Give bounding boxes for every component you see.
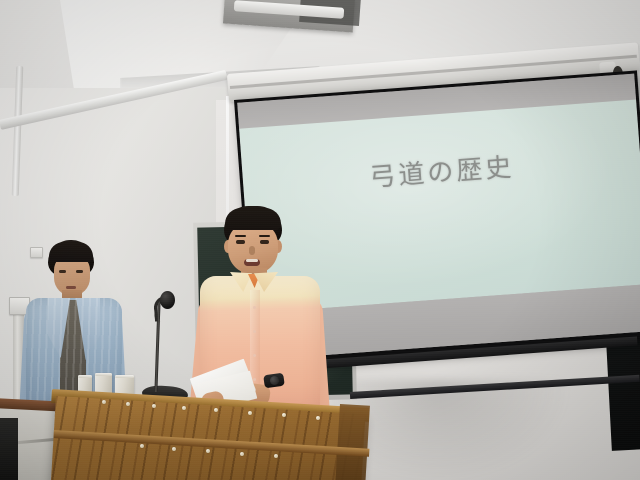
eyebrow-right (259, 235, 270, 237)
desk-side-shadow (0, 418, 18, 480)
podium-stud (274, 454, 278, 458)
podium-stud (316, 416, 320, 420)
hair-fringe (49, 242, 93, 262)
podium-side-panel (335, 404, 370, 480)
podium-stud (140, 444, 144, 448)
eyebrow-left (235, 235, 246, 237)
photo-scene: 弓道の歴史 (0, 0, 640, 480)
mouth (66, 286, 76, 289)
podium-stud (102, 400, 106, 404)
podium-stud (172, 447, 176, 451)
hair-fringe (225, 208, 281, 230)
cup-rim (95, 373, 112, 376)
shirt-button (253, 378, 256, 381)
microphone-head[interactable] (160, 291, 175, 309)
cup-rim (115, 375, 134, 378)
podium-stud (282, 413, 286, 417)
eye-right (76, 270, 83, 273)
podium-stud (182, 406, 186, 410)
shirt-button (253, 306, 256, 309)
podium-stud (206, 449, 210, 453)
podium-stud (240, 452, 244, 456)
teeth (246, 259, 258, 262)
podium-stud (248, 411, 252, 415)
podium-stud (214, 408, 218, 412)
shirt-button (253, 354, 256, 357)
eye-right (260, 240, 269, 244)
person-presenter (186, 206, 336, 416)
podium-stud (126, 402, 130, 406)
eye-left (236, 240, 245, 244)
nose (249, 246, 255, 255)
eye-left (59, 270, 66, 273)
podium-stud (152, 404, 156, 408)
cup-rim (78, 375, 92, 378)
shirt-button (253, 330, 256, 333)
